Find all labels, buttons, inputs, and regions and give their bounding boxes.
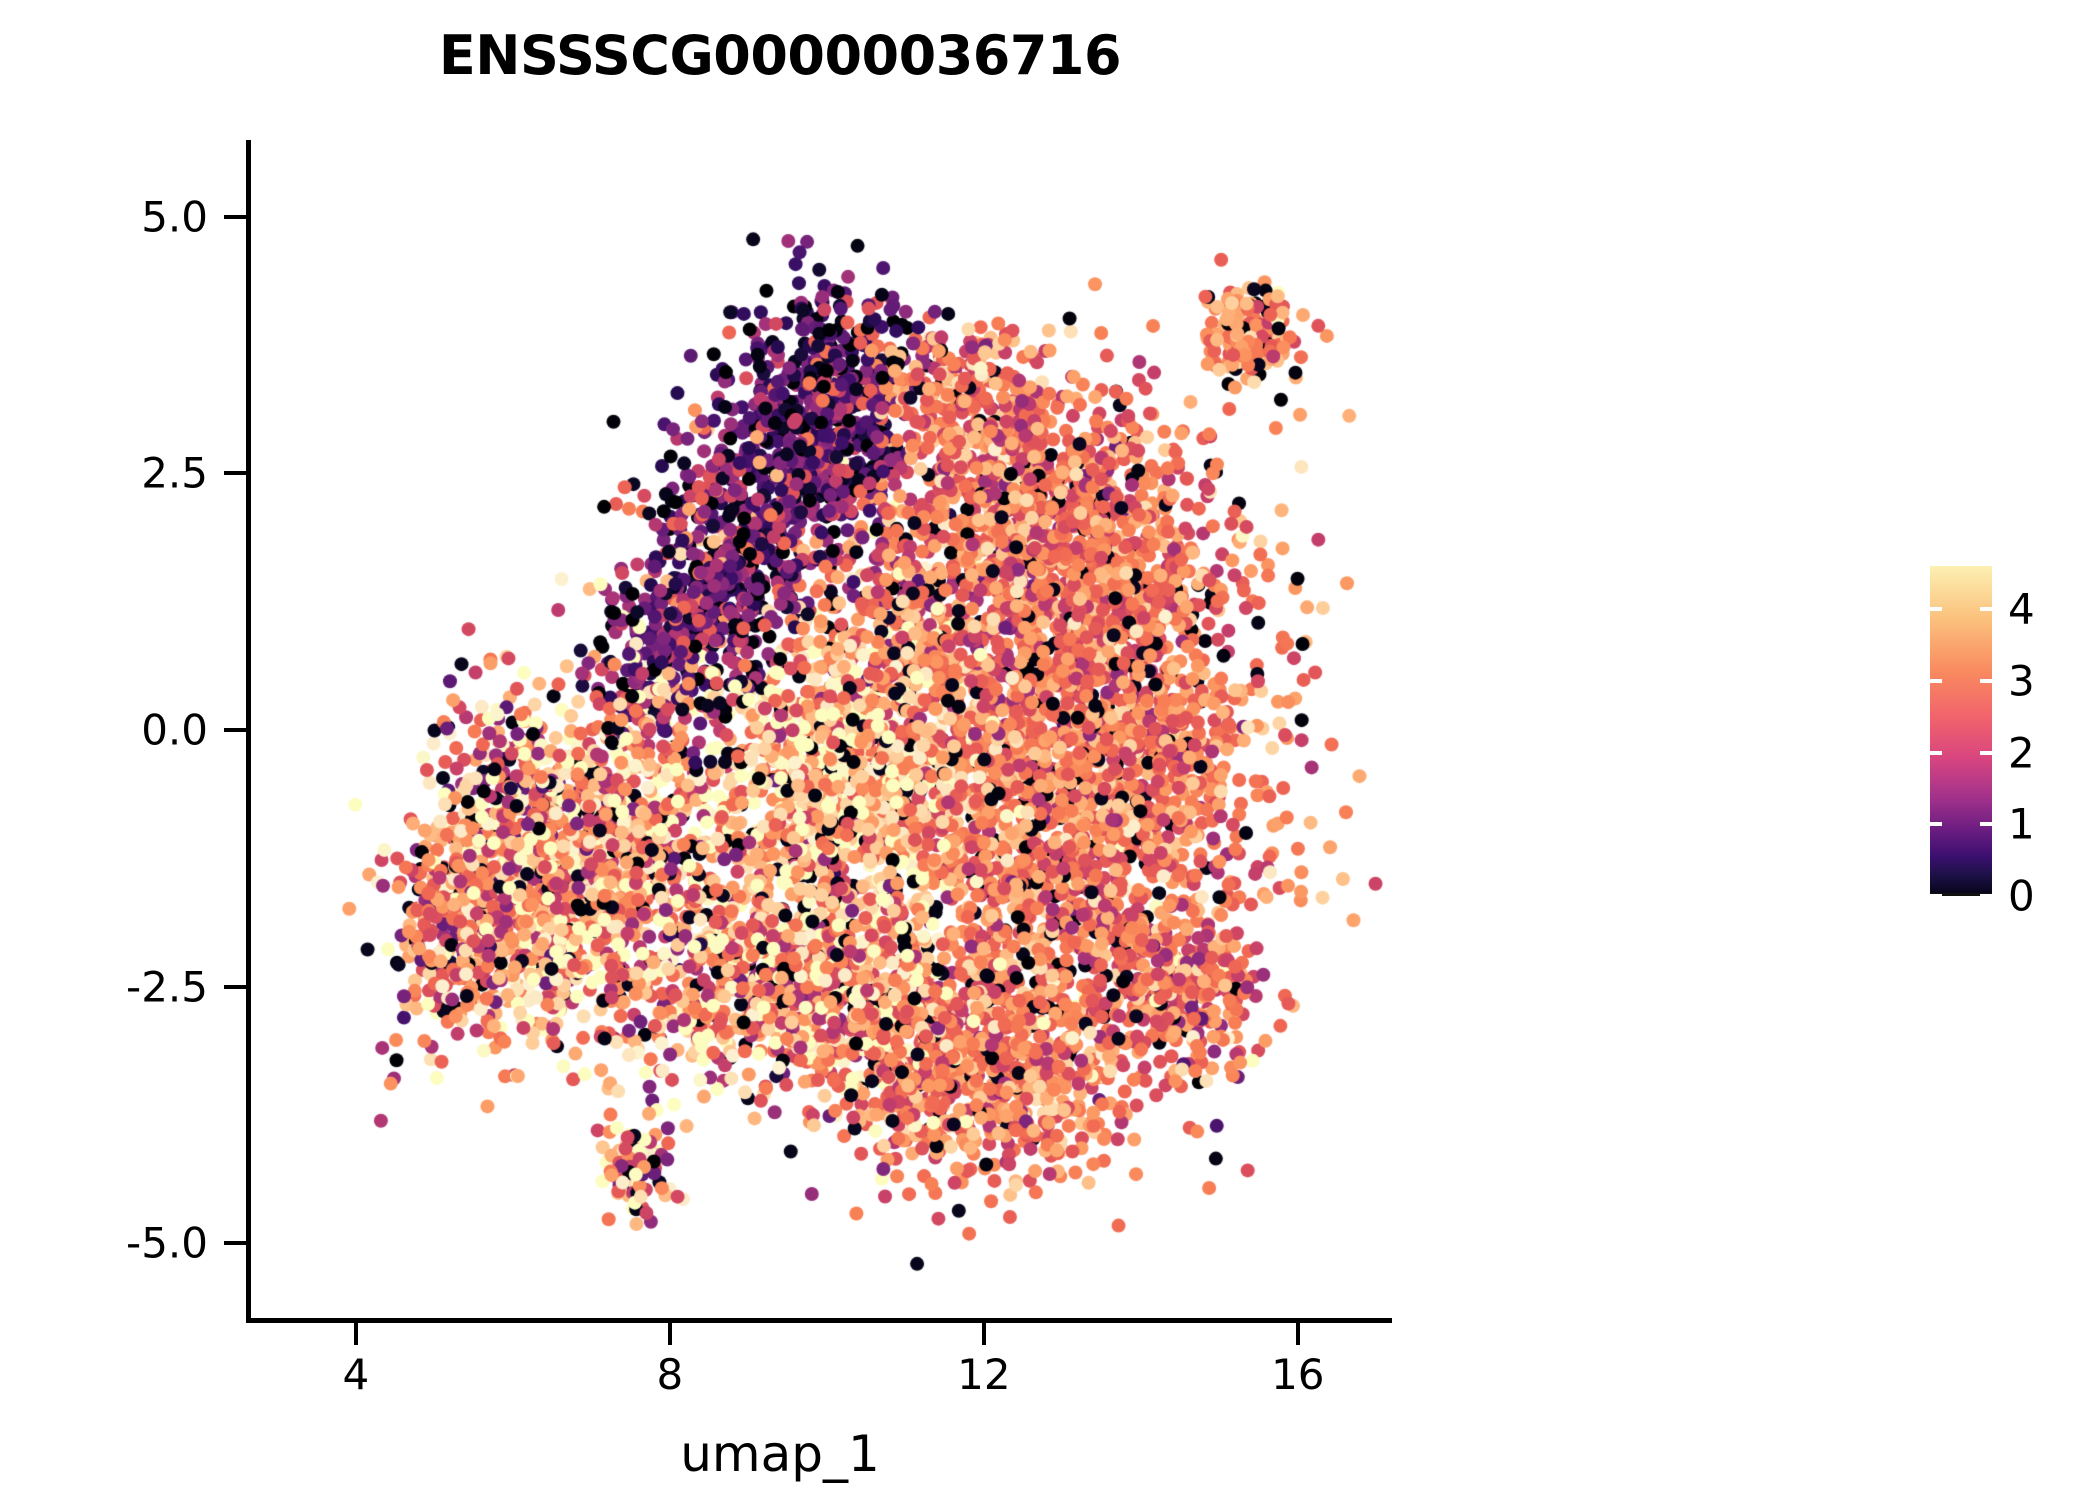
scatter-plot-area (246, 140, 1392, 1320)
y-tick-mark (224, 985, 246, 989)
x-tick-mark (668, 1323, 672, 1345)
x-tick-mark (982, 1323, 986, 1345)
colorbar-tick-mark (1980, 607, 1992, 611)
x-tick-label: 4 (256, 1350, 456, 1399)
colorbar-tick-mark (1980, 822, 1992, 826)
y-tick-label: 5.0 (0, 192, 216, 241)
colorbar-tick-mark (1930, 822, 1942, 826)
colorbar-tick-mark (1930, 607, 1942, 611)
figure-root: ENSSSCG00000036716 5.02.50.0-2.5-5.0 481… (0, 0, 2100, 1500)
x-tick-label: 8 (570, 1350, 770, 1399)
colorbar-tick-label: 1 (2008, 800, 2035, 849)
colorbar-tick-mark (1930, 679, 1942, 683)
x-tick-label: 12 (884, 1350, 1084, 1399)
y-tick-mark (224, 728, 246, 732)
y-tick-label: -5.0 (0, 1219, 216, 1268)
colorbar-tick-mark (1980, 894, 1992, 898)
y-tick-label: 0.0 (0, 706, 216, 755)
colorbar-tick-label: 0 (2008, 872, 2035, 921)
colorbar-tick-mark (1930, 751, 1942, 755)
colorbar-tick-label: 2 (2008, 728, 2035, 777)
x-tick-mark (1296, 1323, 1300, 1345)
y-tick-mark (224, 471, 246, 475)
y-tick-mark (224, 215, 246, 219)
y-tick-label: -2.5 (0, 962, 216, 1011)
colorbar-tick-mark (1980, 751, 1992, 755)
colorbar-tick-label: 4 (2008, 585, 2035, 634)
y-tick-mark (224, 1241, 246, 1245)
page-title: ENSSSCG00000036716 (0, 24, 1560, 87)
colorbar-outline (1930, 566, 1992, 896)
colorbar-tick-mark (1930, 894, 1942, 898)
x-axis-title: umap_1 (0, 1425, 1560, 1483)
x-tick-mark (354, 1323, 358, 1345)
colorbar-legend: 43210 (1930, 566, 2100, 906)
x-tick-label: 16 (1198, 1350, 1398, 1399)
colorbar-tick-mark (1980, 679, 1992, 683)
colorbar-tick-label: 3 (2008, 656, 2035, 705)
y-tick-label: 2.5 (0, 449, 216, 498)
